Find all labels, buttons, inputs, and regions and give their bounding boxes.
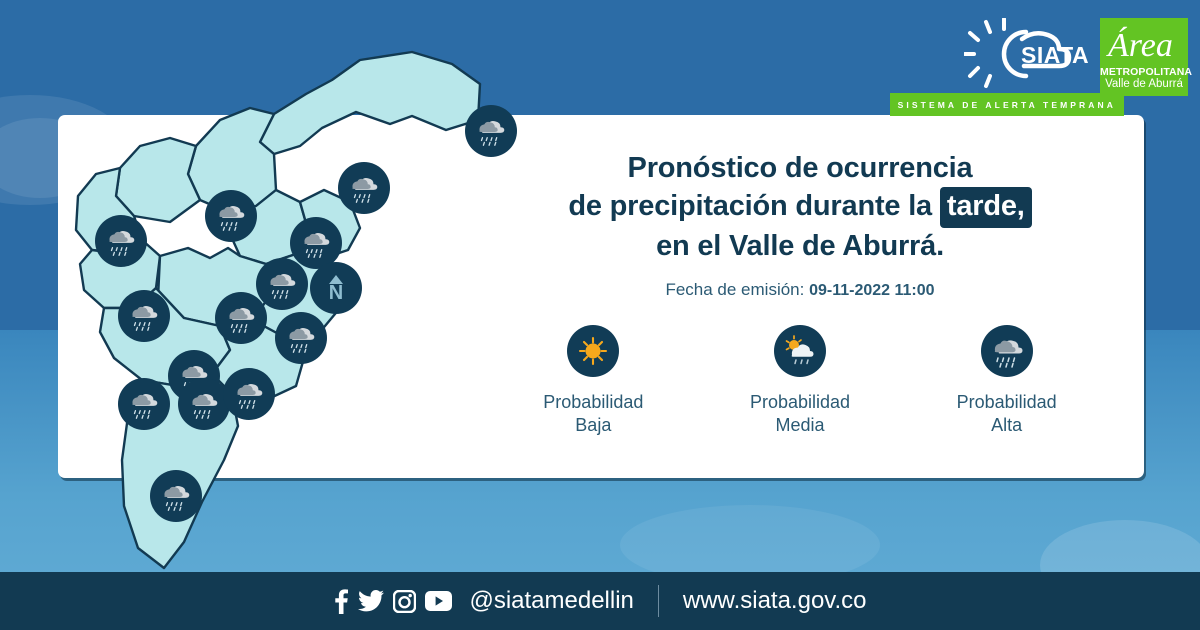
- siata-tagline-text: SISTEMA DE ALERTA TEMPRANA: [898, 100, 1116, 110]
- area-logo-line2: Valle de Aburrá: [1100, 78, 1188, 90]
- title-line-2-text: de precipitación durante la: [568, 190, 932, 222]
- legend-label-alta: Probabilidad Alta: [957, 391, 1057, 437]
- map-marker-caldas[interactable]: [178, 378, 230, 430]
- legend-label-media: Probabilidad Media: [750, 391, 850, 437]
- footer-divider: [658, 585, 659, 617]
- map-marker-angelopolis[interactable]: [223, 368, 275, 420]
- map-marker-san-jeronimo[interactable]: [95, 215, 147, 267]
- footer-content: @siatamedellin www.siata.gov.co: [333, 585, 866, 617]
- cloud-rain-icon: [212, 197, 250, 235]
- cloud-rain-icon: [157, 477, 195, 515]
- cloud-rain-icon: [185, 385, 223, 423]
- legend-label-media-line2: Media: [750, 414, 850, 437]
- map-marker-envigado[interactable]: [275, 312, 327, 364]
- compass-north-icon: N: [310, 262, 362, 314]
- sun-icon: [573, 331, 613, 371]
- map-marker-amaga[interactable]: [150, 470, 202, 522]
- cloud-rain-icon: [222, 299, 260, 337]
- map-marker-la-estrella[interactable]: [118, 378, 170, 430]
- cloud-rain-icon: [282, 319, 320, 357]
- cloud-rain-icon: [125, 385, 163, 423]
- emission-date-label: Fecha de emisión:: [665, 280, 804, 299]
- cloud-rain-icon: [263, 265, 301, 303]
- sun-cloud-rain-icon: [780, 331, 820, 371]
- footer-bar: @siatamedellin www.siata.gov.co: [0, 572, 1200, 630]
- legend-label-alta-line2: Alta: [957, 414, 1057, 437]
- emission-date-value: 09-11-2022 11:00: [809, 282, 934, 299]
- legend-label-baja-line1: Probabilidad: [543, 391, 643, 414]
- instagram-icon[interactable]: [393, 590, 416, 613]
- logo-group: SIATA Área METROPOLITANA Valle de Aburrá: [964, 18, 1188, 96]
- map-valle-de-aburra: N: [60, 50, 480, 580]
- infographic-root: N Pronóstico de ocurrencia de precipitac…: [0, 0, 1200, 630]
- legend-item-baja: Probabilidad Baja: [508, 325, 678, 437]
- siata-logo-text: SIATA: [1021, 42, 1089, 68]
- map-marker-girardota[interactable]: [338, 162, 390, 214]
- youtube-icon[interactable]: [425, 591, 452, 611]
- map-marker-bello[interactable]: [256, 258, 308, 310]
- twitter-icon[interactable]: [358, 590, 384, 612]
- cloud-rain-icon: [102, 222, 140, 260]
- cloud-rain-icon: [297, 224, 335, 262]
- cloud-rain-icon: [345, 169, 383, 207]
- area-script-text: Área: [1106, 27, 1173, 64]
- compass-label: N: [329, 285, 343, 302]
- cloud-rain-icon: [125, 297, 163, 335]
- cloud-rain-icon: [472, 112, 510, 150]
- forecast-text-block: Pronóstico de ocurrencia de precipitació…: [490, 150, 1110, 300]
- legend-icon-wrap-alta: [981, 325, 1033, 377]
- social-icons: [333, 589, 452, 614]
- legend-label-alta-line1: Probabilidad: [957, 391, 1057, 414]
- cloud-rain-icon: [987, 331, 1027, 371]
- area-metropolitana-logo: Área METROPOLITANA Valle de Aburrá: [1100, 18, 1188, 96]
- map-marker-medellin[interactable]: [215, 292, 267, 344]
- siata-sun-cloud-icon: SIATA: [964, 18, 1094, 90]
- map-marker-san-pedro[interactable]: [205, 190, 257, 242]
- facebook-icon[interactable]: [333, 589, 349, 614]
- area-script-icon: Área: [1100, 20, 1188, 66]
- siata-tagline-bar: SISTEMA DE ALERTA TEMPRANA: [890, 93, 1124, 116]
- title-highlight-tarde: tarde,: [940, 187, 1032, 228]
- title-line-1: Pronóstico de ocurrencia: [490, 150, 1110, 187]
- legend-label-baja: Probabilidad Baja: [543, 391, 643, 437]
- siata-logo: SIATA: [964, 18, 1094, 90]
- map-marker-itagui[interactable]: [118, 290, 170, 342]
- website-url[interactable]: www.siata.gov.co: [683, 587, 867, 615]
- legend-icon-wrap-media: [774, 325, 826, 377]
- page-title: Pronóstico de ocurrencia de precipitació…: [490, 150, 1110, 265]
- legend-item-alta: Probabilidad Alta: [922, 325, 1092, 437]
- legend-item-media: Probabilidad Media: [715, 325, 885, 437]
- emission-date: Fecha de emisión: 09-11-2022 11:00: [490, 280, 1110, 300]
- cloud-rain-icon: [230, 375, 268, 413]
- area-logo-line1: METROPOLITANA: [1100, 66, 1188, 78]
- social-handle[interactable]: @siatamedellin: [469, 587, 633, 615]
- legend-icon-wrap-baja: [567, 325, 619, 377]
- legend-label-baja-line2: Baja: [543, 414, 643, 437]
- title-line-2: de precipitación durante la tarde,: [490, 187, 1110, 228]
- probability-legend: Probabilidad Baja: [490, 325, 1110, 437]
- title-line-3: en el Valle de Aburrá.: [490, 228, 1110, 265]
- legend-label-media-line1: Probabilidad: [750, 391, 850, 414]
